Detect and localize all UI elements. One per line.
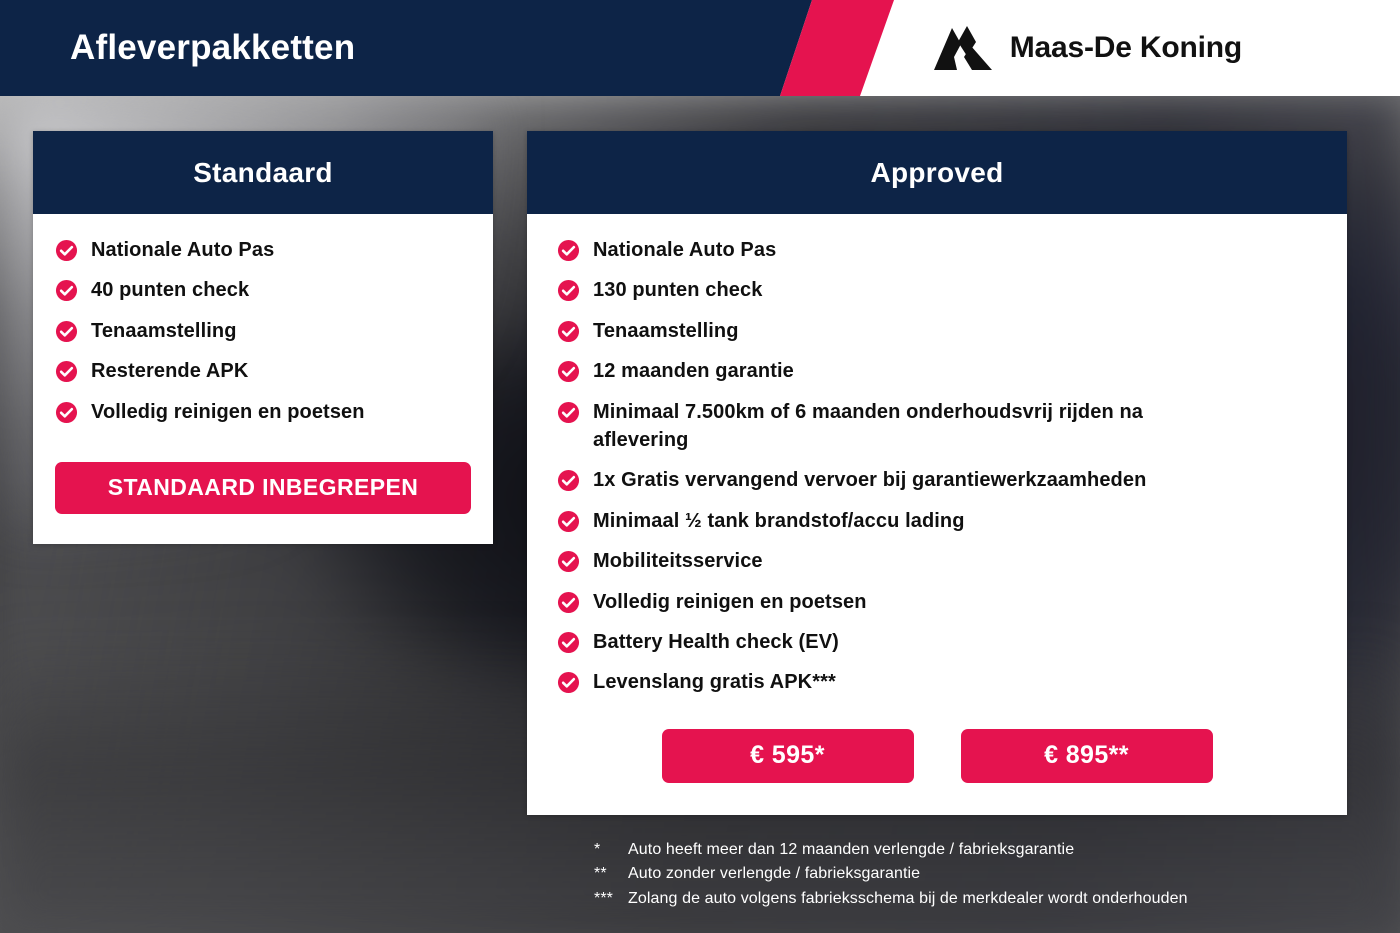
- check-circle-icon: [557, 360, 580, 383]
- page-root: Afleverpakketten Maas-De Koning Standaar…: [0, 0, 1400, 933]
- check-circle-icon: [557, 401, 580, 424]
- package-body-approved: Nationale Auto Pas 130 punten check Tena…: [527, 214, 1347, 815]
- footnote-text: Auto heeft meer dan 12 maanden verlengde…: [628, 838, 1074, 862]
- footnote-text: Zolang de auto volgens fabrieksschema bi…: [628, 887, 1188, 911]
- feature-label: Volledig reinigen en poetsen: [593, 588, 867, 616]
- feature-label: 1x Gratis vervangend vervoer bij garanti…: [593, 466, 1146, 494]
- check-circle-icon: [557, 550, 580, 573]
- package-card-standaard: Standaard Nationale Auto Pas 40 punten c: [33, 131, 493, 544]
- feature-list-standaard: Nationale Auto Pas 40 punten check Tenaa…: [33, 236, 493, 426]
- feature-label: Resterende APK: [91, 357, 248, 385]
- feature-label: 40 punten check: [91, 276, 249, 304]
- list-item: Tenaamstelling: [527, 317, 1347, 345]
- list-item: Resterende APK: [33, 357, 493, 385]
- check-circle-icon: [557, 239, 580, 262]
- feature-label: Minimaal 7.500km of 6 maanden onderhouds…: [593, 398, 1233, 455]
- footnote-mark: ***: [594, 887, 628, 911]
- package-body-standaard: Nationale Auto Pas 40 punten check Tenaa…: [33, 214, 493, 544]
- list-item: 40 punten check: [33, 276, 493, 304]
- brand-name: Maas-De Koning: [1010, 31, 1242, 65]
- feature-label: 12 maanden garantie: [593, 357, 794, 385]
- check-circle-icon: [557, 631, 580, 654]
- check-circle-icon: [55, 279, 78, 302]
- package-title-standaard: Standaard: [193, 157, 333, 189]
- footnote-mark: *: [594, 838, 628, 862]
- maas-de-koning-m-monogram-icon: [934, 24, 994, 72]
- footnote-single-asterisk: * Auto heeft meer dan 12 maanden verleng…: [594, 838, 1188, 862]
- check-circle-icon: [55, 320, 78, 343]
- feature-label: Tenaamstelling: [91, 317, 237, 345]
- list-item: 12 maanden garantie: [527, 357, 1347, 385]
- price-button-595[interactable]: € 595*: [662, 729, 914, 783]
- package-title-approved: Approved: [870, 157, 1003, 189]
- check-circle-icon: [557, 279, 580, 302]
- standaard-cta-wrap: STANDAARD INBEGREPEN: [33, 438, 493, 544]
- feature-label: Battery Health check (EV): [593, 628, 839, 656]
- check-circle-icon: [55, 239, 78, 262]
- page-title: Afleverpakketten: [70, 0, 355, 96]
- feature-list-approved: Nationale Auto Pas 130 punten check Tena…: [527, 236, 1347, 697]
- feature-label: Minimaal ½ tank brandstof/accu lading: [593, 507, 965, 535]
- list-item: Nationale Auto Pas: [33, 236, 493, 264]
- check-circle-icon: [55, 401, 78, 424]
- package-header-approved: Approved: [527, 131, 1347, 214]
- check-circle-icon: [55, 360, 78, 383]
- list-item: Tenaamstelling: [33, 317, 493, 345]
- feature-label: Nationale Auto Pas: [593, 236, 776, 264]
- list-item: Battery Health check (EV): [527, 628, 1347, 656]
- list-item: 130 punten check: [527, 276, 1347, 304]
- check-circle-icon: [557, 591, 580, 614]
- package-card-approved: Approved Nationale Auto Pas 130 punten c: [527, 131, 1347, 815]
- check-circle-icon: [557, 671, 580, 694]
- check-circle-icon: [557, 469, 580, 492]
- list-item: Volledig reinigen en poetsen: [527, 588, 1347, 616]
- feature-label: Volledig reinigen en poetsen: [91, 398, 365, 426]
- feature-label: Nationale Auto Pas: [91, 236, 274, 264]
- list-item: Levenslang gratis APK***: [527, 668, 1347, 696]
- list-item: Volledig reinigen en poetsen: [33, 398, 493, 426]
- list-item: Nationale Auto Pas: [527, 236, 1347, 264]
- footnote-double-asterisk: ** Auto zonder verlengde / fabrieksgaran…: [594, 862, 1188, 886]
- list-item: Mobiliteitsservice: [527, 547, 1347, 575]
- list-item: Minimaal ½ tank brandstof/accu lading: [527, 507, 1347, 535]
- footnotes: * Auto heeft meer dan 12 maanden verleng…: [594, 838, 1188, 911]
- price-row: € 595* € 895**: [527, 709, 1347, 815]
- check-circle-icon: [557, 320, 580, 343]
- list-item: Minimaal 7.500km of 6 maanden onderhouds…: [527, 398, 1347, 455]
- package-header-standaard: Standaard: [33, 131, 493, 214]
- standaard-included-button[interactable]: STANDAARD INBEGREPEN: [55, 462, 471, 514]
- list-item: 1x Gratis vervangend vervoer bij garanti…: [527, 466, 1347, 494]
- page-header: Afleverpakketten Maas-De Koning: [0, 0, 1400, 96]
- brand-logo: Maas-De Koning: [934, 0, 1242, 96]
- feature-label: Mobiliteitsservice: [593, 547, 763, 575]
- feature-label: Tenaamstelling: [593, 317, 739, 345]
- price-button-895[interactable]: € 895**: [961, 729, 1213, 783]
- check-circle-icon: [557, 510, 580, 533]
- footnote-mark: **: [594, 862, 628, 886]
- feature-label: 130 punten check: [593, 276, 762, 304]
- footnote-text: Auto zonder verlengde / fabrieksgarantie: [628, 862, 920, 886]
- feature-label: Levenslang gratis APK***: [593, 668, 836, 696]
- footnote-triple-asterisk: *** Zolang de auto volgens fabrieksschem…: [594, 887, 1188, 911]
